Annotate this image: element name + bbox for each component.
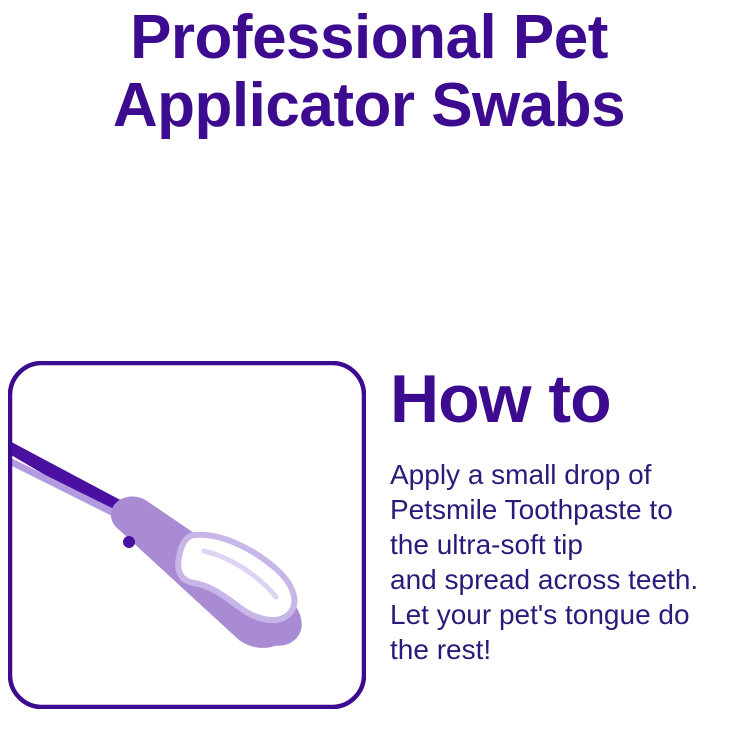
howto-line-1: Apply a small drop of: [390, 457, 730, 492]
howto-heading: How to: [390, 355, 730, 435]
page-title-line-1: Professional Pet: [0, 4, 738, 72]
howto-section: How to Apply a small drop of Petsmile To…: [390, 355, 730, 667]
lower-content: How to Apply a small drop of Petsmile To…: [0, 355, 738, 730]
howto-line-3: the ultra-soft tip: [390, 527, 730, 562]
swab-joint-dot: [123, 536, 135, 548]
swab-illustration-frame: [8, 361, 366, 709]
page-title: Professional Pet Applicator Swabs: [0, 0, 738, 140]
product-info-panel: Professional Pet Applicator Swabs: [0, 0, 738, 730]
howto-line-2: Petsmile Toothpaste to: [390, 492, 730, 527]
howto-instructions: Apply a small drop of Petsmile Toothpast…: [390, 435, 730, 667]
howto-line-4: and spread across teeth.: [390, 562, 730, 597]
page-title-line-2: Applicator Swabs: [0, 72, 738, 140]
howto-line-6: the rest!: [390, 632, 730, 667]
howto-line-5: Let your pet's tongue do: [390, 597, 730, 632]
